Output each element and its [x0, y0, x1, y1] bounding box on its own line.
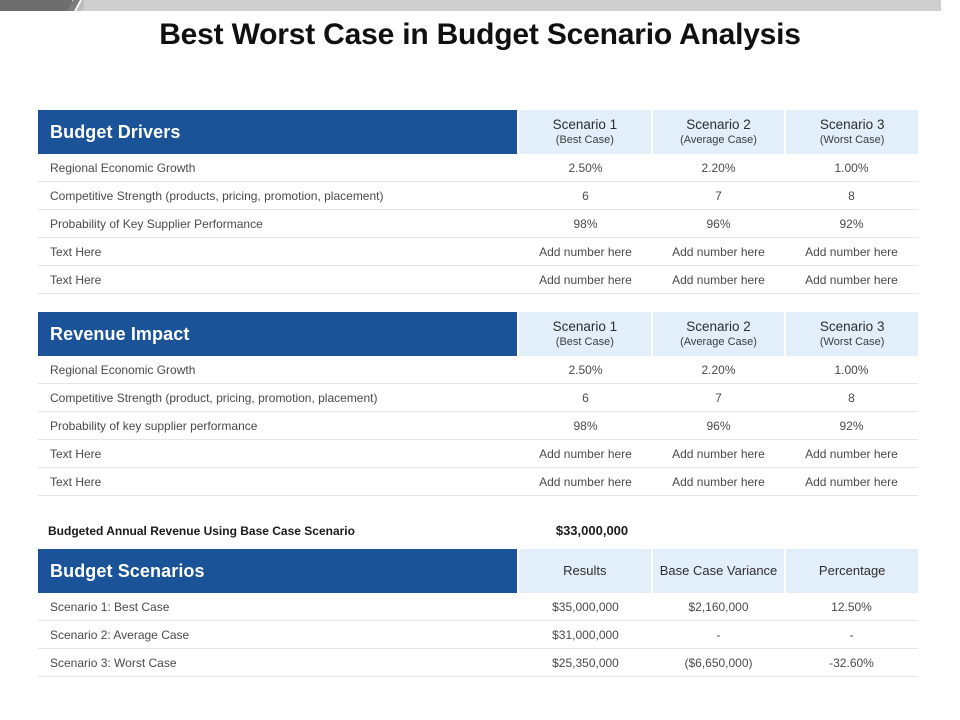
row-values: 6 7 8	[519, 384, 918, 411]
row-value-scenario-3: 92%	[785, 210, 918, 237]
row-value-results: $25,350,000	[519, 649, 652, 676]
top-decorative-bar	[0, 0, 960, 11]
row-value-scenario-3: 8	[785, 384, 918, 411]
column-header-percentage: Percentage	[784, 549, 918, 593]
row-label: Regional Economic Growth	[38, 154, 517, 181]
column-header-scenario-1-line1: Scenario 1	[553, 117, 618, 133]
budget-drivers-header-row: Budget Drivers Scenario 1 (Best Case) Sc…	[38, 110, 918, 154]
row-value-scenario-1: 6	[519, 384, 652, 411]
row-values: $35,000,000 $2,160,000 12.50%	[519, 593, 918, 620]
row-value-scenario-2: 96%	[652, 210, 785, 237]
row-value-scenario-3: Add number here	[785, 440, 918, 467]
column-header-scenario-2-line2: (Average Case)	[680, 133, 757, 147]
table-row: Probability of Key Supplier Performance …	[38, 210, 918, 238]
row-values: 98% 96% 92%	[519, 412, 918, 439]
row-value-scenario-1: 98%	[519, 412, 652, 439]
row-value-scenario-3: 92%	[785, 412, 918, 439]
row-value-scenario-2: 7	[652, 384, 785, 411]
row-value-base-case-variance: -	[652, 621, 785, 648]
column-header-scenario-2: Scenario 2 (Average Case)	[651, 110, 785, 154]
table-row: Text Here Add number here Add number her…	[38, 266, 918, 294]
column-header-scenario-3-line1: Scenario 3	[820, 319, 885, 335]
table-row: Competitive Strength (products, pricing,…	[38, 182, 918, 210]
row-value-scenario-2: 2.20%	[652, 356, 785, 383]
column-header-results-label: Results	[563, 563, 606, 579]
page-title: Best Worst Case in Budget Scenario Analy…	[0, 18, 960, 52]
table-row: Scenario 2: Average Case $31,000,000 - -	[38, 621, 918, 649]
top-bar-light-segment	[84, 0, 941, 11]
budget-scenarios-header-row: Budget Scenarios Results Base Case Varia…	[38, 549, 918, 593]
column-header-base-case-variance-label: Base Case Variance	[660, 563, 778, 579]
row-values: $31,000,000 - -	[519, 621, 918, 648]
row-label: Text Here	[38, 468, 517, 495]
row-value-scenario-2: 2.20%	[652, 154, 785, 181]
column-header-scenario-2-line1: Scenario 2	[686, 319, 751, 335]
row-label: Scenario 2: Average Case	[38, 621, 517, 648]
row-value-scenario-2: Add number here	[652, 266, 785, 293]
base-case-revenue-value: $33,000,000	[517, 523, 667, 538]
row-value-scenario-1: Add number here	[519, 468, 652, 495]
row-value-percentage: -	[785, 621, 918, 648]
column-header-scenario-1-line2: (Best Case)	[556, 335, 614, 349]
revenue-impact-title: Revenue Impact	[38, 312, 517, 356]
row-value-scenario-3: Add number here	[785, 266, 918, 293]
row-label: Text Here	[38, 440, 517, 467]
row-values: 6 7 8	[519, 182, 918, 209]
column-header-scenario-1: Scenario 1 (Best Case)	[519, 110, 651, 154]
row-value-scenario-2: Add number here	[652, 440, 785, 467]
row-value-scenario-3: 1.00%	[785, 154, 918, 181]
row-value-base-case-variance: ($6,650,000)	[652, 649, 785, 676]
row-value-scenario-2: 96%	[652, 412, 785, 439]
budget-scenarios-title: Budget Scenarios	[38, 549, 517, 593]
row-label: Probability of key supplier performance	[38, 412, 517, 439]
row-value-scenario-3: 1.00%	[785, 356, 918, 383]
row-value-scenario-1: 6	[519, 182, 652, 209]
table-row: Probability of key supplier performance …	[38, 412, 918, 440]
row-value-scenario-2: 7	[652, 182, 785, 209]
column-header-scenario-2-line2: (Average Case)	[680, 335, 757, 349]
row-label: Probability of Key Supplier Performance	[38, 210, 517, 237]
row-values: 2.50% 2.20% 1.00%	[519, 356, 918, 383]
budget-scenarios-table: Budget Scenarios Results Base Case Varia…	[38, 549, 918, 677]
row-label: Text Here	[38, 238, 517, 265]
column-header-scenario-1-line2: (Best Case)	[556, 133, 614, 147]
row-values: Add number here Add number here Add numb…	[519, 238, 918, 265]
budget-drivers-table: Budget Drivers Scenario 1 (Best Case) Sc…	[38, 110, 918, 294]
row-values: Add number here Add number here Add numb…	[519, 266, 918, 293]
table-row: Scenario 3: Worst Case $25,350,000 ($6,6…	[38, 649, 918, 677]
table-row: Regional Economic Growth 2.50% 2.20% 1.0…	[38, 154, 918, 182]
column-header-results: Results	[519, 549, 651, 593]
row-label: Competitive Strength (products, pricing,…	[38, 182, 517, 209]
row-value-scenario-1: Add number here	[519, 238, 652, 265]
row-values: 98% 96% 92%	[519, 210, 918, 237]
row-values: 2.50% 2.20% 1.00%	[519, 154, 918, 181]
column-header-scenario-3: Scenario 3 (Worst Case)	[784, 110, 918, 154]
column-header-scenario-3-line1: Scenario 3	[820, 117, 885, 133]
row-value-results: $35,000,000	[519, 593, 652, 620]
table-row: Scenario 1: Best Case $35,000,000 $2,160…	[38, 593, 918, 621]
column-header-scenario-2: Scenario 2 (Average Case)	[651, 312, 785, 356]
base-case-revenue-note: Budgeted Annual Revenue Using Base Case …	[38, 523, 918, 538]
revenue-impact-header-row: Revenue Impact Scenario 1 (Best Case) Sc…	[38, 312, 918, 356]
column-header-scenario-3: Scenario 3 (Worst Case)	[784, 312, 918, 356]
row-label: Regional Economic Growth	[38, 356, 517, 383]
column-header-percentage-label: Percentage	[819, 563, 886, 579]
row-label: Text Here	[38, 266, 517, 293]
column-header-base-case-variance: Base Case Variance	[651, 549, 785, 593]
row-value-results: $31,000,000	[519, 621, 652, 648]
row-values: $25,350,000 ($6,650,000) -32.60%	[519, 649, 918, 676]
row-values: Add number here Add number here Add numb…	[519, 440, 918, 467]
column-header-scenario-3-line2: (Worst Case)	[820, 335, 885, 349]
row-values: Add number here Add number here Add numb…	[519, 468, 918, 495]
row-value-scenario-3: Add number here	[785, 238, 918, 265]
table-row: Regional Economic Growth 2.50% 2.20% 1.0…	[38, 356, 918, 384]
row-value-base-case-variance: $2,160,000	[652, 593, 785, 620]
column-header-scenario-1-line1: Scenario 1	[553, 319, 618, 335]
table-row: Text Here Add number here Add number her…	[38, 238, 918, 266]
row-value-scenario-2: Add number here	[652, 468, 785, 495]
column-header-scenario-2-line1: Scenario 2	[686, 117, 751, 133]
budget-scenarios-column-headers: Results Base Case Variance Percentage	[519, 549, 918, 593]
row-value-scenario-1: 2.50%	[519, 154, 652, 181]
column-header-scenario-1: Scenario 1 (Best Case)	[519, 312, 651, 356]
base-case-revenue-label: Budgeted Annual Revenue Using Base Case …	[38, 524, 517, 538]
row-value-scenario-3: Add number here	[785, 468, 918, 495]
revenue-impact-table: Revenue Impact Scenario 1 (Best Case) Sc…	[38, 312, 918, 496]
table-row: Text Here Add number here Add number her…	[38, 468, 918, 496]
row-value-scenario-1: Add number here	[519, 266, 652, 293]
row-value-percentage: 12.50%	[785, 593, 918, 620]
budget-drivers-column-headers: Scenario 1 (Best Case) Scenario 2 (Avera…	[519, 110, 918, 154]
row-value-scenario-1: 98%	[519, 210, 652, 237]
row-value-scenario-2: Add number here	[652, 238, 785, 265]
budget-drivers-title: Budget Drivers	[38, 110, 517, 154]
row-value-scenario-3: 8	[785, 182, 918, 209]
column-header-scenario-3-line2: (Worst Case)	[820, 133, 885, 147]
row-value-percentage: -32.60%	[785, 649, 918, 676]
table-row: Text Here Add number here Add number her…	[38, 440, 918, 468]
row-label: Scenario 1: Best Case	[38, 593, 517, 620]
table-row: Competitive Strength (product, pricing, …	[38, 384, 918, 412]
top-bar-dark-segment	[0, 0, 72, 11]
row-label: Competitive Strength (product, pricing, …	[38, 384, 517, 411]
revenue-impact-column-headers: Scenario 1 (Best Case) Scenario 2 (Avera…	[519, 312, 918, 356]
row-label: Scenario 3: Worst Case	[38, 649, 517, 676]
row-value-scenario-1: Add number here	[519, 440, 652, 467]
row-value-scenario-1: 2.50%	[519, 356, 652, 383]
